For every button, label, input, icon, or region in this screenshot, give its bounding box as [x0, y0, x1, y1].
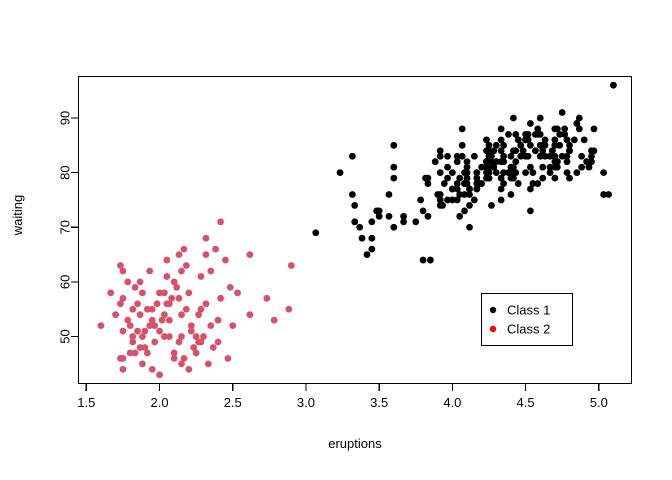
data-point [466, 224, 473, 231]
data-point [551, 175, 558, 182]
data-point [461, 169, 468, 176]
data-point [449, 169, 456, 176]
data-point [198, 273, 205, 280]
data-point [534, 126, 541, 133]
data-point [483, 136, 490, 143]
data-point [151, 339, 158, 346]
data-point [498, 197, 505, 204]
data-point [163, 257, 170, 264]
data-point [386, 191, 393, 198]
data-point [234, 289, 241, 296]
data-point [139, 360, 146, 367]
data-point [461, 191, 468, 198]
data-point [539, 175, 546, 182]
data-point [444, 197, 451, 204]
x-axis-title: eruptions [328, 436, 382, 451]
x-tick-label: 3.5 [370, 395, 388, 410]
data-point [547, 169, 554, 176]
data-point [129, 306, 136, 313]
data-point [464, 180, 471, 187]
data-point [571, 136, 578, 143]
data-point [505, 131, 512, 138]
data-point [490, 147, 497, 154]
data-point [149, 366, 156, 373]
data-point [578, 153, 585, 160]
data-point [163, 273, 170, 280]
x-tick-label: 1.5 [77, 395, 95, 410]
data-point [176, 251, 183, 258]
data-point [473, 169, 480, 176]
data-point [132, 284, 139, 291]
data-point [120, 366, 127, 373]
data-point [246, 251, 253, 258]
data-point [212, 246, 219, 253]
y-tick-label: 90 [58, 111, 73, 125]
data-point [532, 147, 539, 154]
data-point [364, 251, 371, 258]
data-point [471, 197, 478, 204]
data-point [390, 224, 397, 231]
data-point [203, 251, 210, 258]
data-point [456, 213, 463, 220]
y-tick-label: 80 [58, 165, 73, 179]
data-point [583, 158, 590, 165]
data-point [498, 158, 505, 165]
data-point [473, 186, 480, 193]
data-point [554, 164, 561, 171]
data-point [525, 153, 532, 160]
data-point [434, 191, 441, 198]
data-point [527, 207, 534, 214]
data-point [537, 115, 544, 122]
data-point [188, 322, 195, 329]
data-point [510, 115, 517, 122]
data-point [156, 289, 163, 296]
data-point [246, 311, 253, 318]
data-point [183, 306, 190, 313]
data-point [156, 371, 163, 378]
data-point [171, 350, 178, 357]
data-point [498, 186, 505, 193]
legend-marker-icon [490, 307, 496, 313]
data-point [459, 142, 466, 149]
data-point [437, 153, 444, 160]
data-point [229, 322, 236, 329]
y-axis-title: waiting [10, 195, 25, 236]
data-point [349, 153, 356, 160]
data-point [520, 147, 527, 154]
data-point [547, 153, 554, 160]
data-point [154, 300, 161, 307]
data-point [488, 202, 495, 209]
data-point [515, 180, 522, 187]
data-point [356, 224, 363, 231]
data-point [207, 322, 214, 329]
data-point [193, 333, 200, 340]
data-point [564, 136, 571, 143]
data-point [478, 164, 485, 171]
x-tick-label: 2.5 [224, 395, 242, 410]
data-point [127, 322, 134, 329]
data-point [120, 355, 127, 362]
data-point [368, 246, 375, 253]
data-point [222, 257, 229, 264]
data-point [351, 218, 358, 225]
data-point [178, 268, 185, 275]
figure-background [0, 0, 672, 480]
data-point [217, 218, 224, 225]
data-point [185, 366, 192, 373]
data-point [530, 169, 537, 176]
data-point [151, 322, 158, 329]
data-point [559, 153, 566, 160]
data-point [210, 344, 217, 351]
data-point [176, 339, 183, 346]
data-point [498, 126, 505, 133]
data-point [166, 300, 173, 307]
data-point [120, 295, 127, 302]
y-tick-label: 60 [58, 275, 73, 289]
data-point [498, 175, 505, 182]
data-point [459, 126, 466, 133]
data-point [454, 153, 461, 160]
data-point [195, 311, 202, 318]
data-point [559, 109, 566, 116]
data-point [461, 207, 468, 214]
data-point [215, 339, 222, 346]
data-point [464, 158, 471, 165]
data-point [432, 158, 439, 165]
data-point [139, 289, 146, 296]
data-point [420, 257, 427, 264]
data-point [203, 235, 210, 242]
y-tick-label: 70 [58, 220, 73, 234]
data-point [505, 169, 512, 176]
data-point [427, 257, 434, 264]
data-point [98, 322, 105, 329]
data-point [539, 147, 546, 154]
data-point [573, 169, 580, 176]
data-point [117, 262, 124, 269]
data-point [420, 207, 427, 214]
data-point [425, 213, 432, 220]
data-point [368, 218, 375, 225]
data-point [161, 311, 168, 318]
data-point [200, 333, 207, 340]
data-point [466, 202, 473, 209]
data-point [141, 344, 148, 351]
data-point [510, 147, 517, 154]
data-point [215, 317, 222, 324]
data-point [144, 306, 151, 313]
data-point [510, 175, 517, 182]
data-point [312, 229, 319, 236]
data-point [178, 360, 185, 367]
data-point [271, 317, 278, 324]
data-point [225, 355, 232, 362]
data-point [134, 328, 141, 335]
data-point [183, 262, 190, 269]
data-point [522, 169, 529, 176]
data-point [527, 186, 534, 193]
data-point [134, 300, 141, 307]
legend-box [482, 294, 573, 346]
data-point [390, 164, 397, 171]
data-point [444, 153, 451, 160]
data-point [349, 191, 356, 198]
scatter-plot-figure: 1.52.02.53.03.54.04.55.0 5060708090 erup… [0, 0, 672, 480]
data-point [107, 289, 114, 296]
data-point [176, 295, 183, 302]
legend[interactable]: Class 1Class 2 [482, 294, 573, 346]
data-point [498, 147, 505, 154]
data-point [437, 169, 444, 176]
data-point [400, 218, 407, 225]
data-point [146, 268, 153, 275]
x-tick-label: 2.0 [150, 395, 168, 410]
legend-item-label: Class 1 [507, 303, 550, 318]
data-point [205, 360, 212, 367]
data-point [386, 213, 393, 220]
data-point [190, 344, 197, 351]
data-point [539, 164, 546, 171]
data-point [534, 180, 541, 187]
data-point [129, 339, 136, 346]
data-point [417, 197, 424, 204]
data-point [112, 311, 119, 318]
data-point [166, 333, 173, 340]
data-point [203, 300, 210, 307]
data-point [217, 295, 224, 302]
data-point [120, 328, 127, 335]
data-point [564, 158, 571, 165]
data-point [527, 120, 534, 127]
x-tick-label: 3.0 [297, 395, 315, 410]
data-point [337, 169, 344, 176]
x-tick-label: 4.5 [517, 395, 535, 410]
data-point [525, 131, 532, 138]
data-point [137, 279, 144, 286]
data-point [351, 202, 358, 209]
data-point [578, 164, 585, 171]
x-tick-label: 5.0 [590, 395, 608, 410]
data-point [566, 147, 573, 154]
data-point [412, 218, 419, 225]
data-point [137, 311, 144, 318]
data-point [573, 120, 580, 127]
data-point [288, 262, 295, 269]
data-point [139, 333, 146, 340]
data-point [581, 136, 588, 143]
data-point [390, 175, 397, 182]
data-point [556, 142, 563, 149]
data-point [227, 284, 234, 291]
data-point [508, 191, 515, 198]
data-point [498, 136, 505, 143]
data-point [166, 317, 173, 324]
data-point [490, 164, 497, 171]
data-point [449, 186, 456, 193]
data-point [132, 350, 139, 357]
data-point [566, 175, 573, 182]
data-point [610, 82, 617, 89]
data-point [471, 153, 478, 160]
data-point [285, 306, 292, 313]
data-point [515, 136, 522, 143]
data-point [124, 279, 131, 286]
data-point [591, 147, 598, 154]
data-point [444, 164, 451, 171]
data-point [422, 175, 429, 182]
plot-canvas: 1.52.02.53.03.54.04.55.0 5060708090 erup… [0, 0, 672, 480]
data-point [185, 289, 192, 296]
data-point [390, 142, 397, 149]
data-point [373, 207, 380, 214]
data-point [156, 328, 163, 335]
y-tick-label: 50 [58, 329, 73, 343]
data-point [556, 131, 563, 138]
x-tick-label: 4.0 [443, 395, 461, 410]
data-point [207, 268, 214, 275]
data-point [181, 246, 188, 253]
data-point [263, 295, 270, 302]
data-point [600, 169, 607, 176]
data-point [359, 235, 366, 242]
legend-item-label: Class 2 [507, 322, 550, 337]
legend-marker-icon [490, 326, 496, 332]
data-point [368, 235, 375, 242]
data-point [178, 311, 185, 318]
data-point [173, 284, 180, 291]
data-point [600, 191, 607, 198]
data-point [444, 175, 451, 182]
data-point [454, 180, 461, 187]
data-point [591, 126, 598, 133]
data-point [510, 164, 517, 171]
